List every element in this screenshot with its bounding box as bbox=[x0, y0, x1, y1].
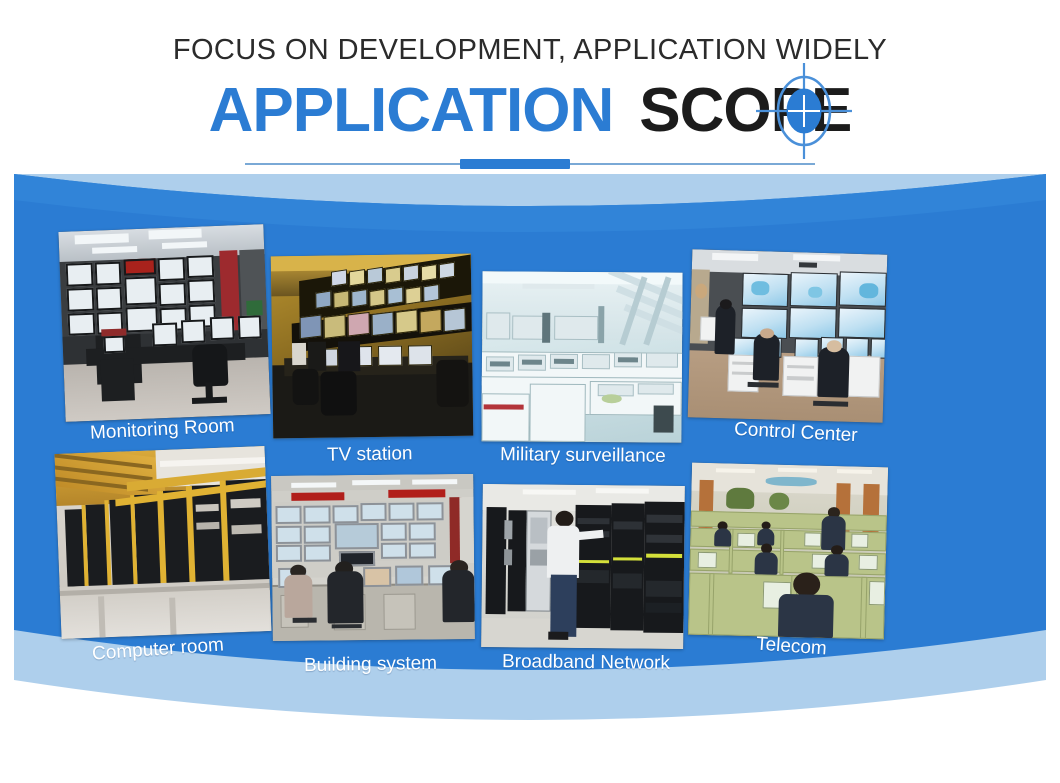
title-word-scope: SCOPE bbox=[639, 75, 851, 147]
caption-tv-station: TV station bbox=[327, 443, 413, 466]
page-subtitle: FOCUS ON DEVELOPMENT, APPLICATION WIDELY bbox=[0, 0, 1060, 67]
page-header: FOCUS ON DEVELOPMENT, APPLICATION WIDELY… bbox=[0, 0, 1060, 170]
photo-monitoring-room bbox=[58, 224, 270, 422]
page-title: APPLICATION SCOPE bbox=[0, 75, 1060, 147]
tile-broadband-network[interactable] bbox=[481, 484, 685, 649]
photo-tv-station bbox=[271, 254, 474, 439]
caption-broadband-network: Broadband Network bbox=[502, 651, 670, 675]
tile-control-center[interactable] bbox=[688, 249, 888, 422]
caption-building-system: Building system bbox=[304, 653, 437, 677]
photo-computer-room bbox=[55, 446, 272, 639]
tile-computer-room[interactable] bbox=[55, 446, 272, 639]
photo-building-system bbox=[271, 474, 475, 641]
tile-military-surveillance[interactable] bbox=[481, 271, 682, 442]
photo-military-surveillance bbox=[481, 271, 682, 442]
tile-building-system[interactable] bbox=[271, 474, 475, 641]
tile-telecom[interactable] bbox=[688, 463, 888, 640]
tile-tv-station[interactable] bbox=[271, 254, 474, 439]
caption-military-surveillance: Military surveillance bbox=[500, 444, 666, 468]
title-word-application: APPLICATION bbox=[209, 75, 614, 147]
photo-broadband-network bbox=[481, 484, 685, 649]
title-word-scope-text: SCOPE bbox=[639, 76, 851, 145]
photo-telecom bbox=[688, 463, 888, 640]
photo-control-center bbox=[688, 249, 888, 422]
application-scope-banner: Monitoring Room TV station Military surv… bbox=[0, 160, 1060, 730]
tile-monitoring-room[interactable] bbox=[58, 224, 270, 422]
